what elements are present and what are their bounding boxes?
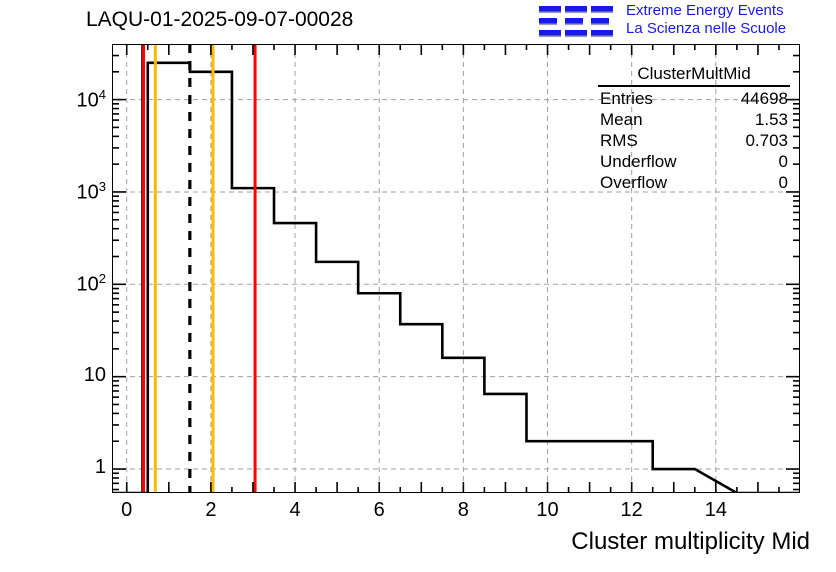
stats-row: Overflow 0 xyxy=(598,172,790,193)
x-axis-tick-label: 8 xyxy=(438,499,488,522)
stats-box: ClusterMultMid Entries 44698 Mean 1.53 R… xyxy=(598,64,790,193)
x-axis-tick-label: 12 xyxy=(607,499,657,522)
eee-logo-text: Extreme Energy Events La Scienza nelle S… xyxy=(626,2,786,38)
x-axis-tick-label: 2 xyxy=(186,499,236,522)
stats-value: 0 xyxy=(779,151,788,172)
x-axis-tick-label: 0 xyxy=(102,499,152,522)
stats-row: Underflow 0 xyxy=(598,151,790,172)
stats-value: 44698 xyxy=(741,88,788,109)
stats-key: Underflow xyxy=(600,151,677,172)
marker-lines xyxy=(143,44,255,493)
histogram-canvas: LAQU-01-2025-09-07-00028 xyxy=(0,0,836,572)
y-axis-tick-label: 10 xyxy=(40,364,106,387)
x-axis-title: Cluster multiplicity Mid xyxy=(571,528,810,556)
stats-row: RMS 0.703 xyxy=(598,130,790,151)
stats-key: Entries xyxy=(600,88,653,109)
page-title: LAQU-01-2025-09-07-00028 xyxy=(86,8,353,32)
stats-title: ClusterMultMid xyxy=(598,64,790,87)
eee-logo: Extreme Energy Events La Scienza nelle S… xyxy=(538,2,834,42)
stats-row: Entries 44698 xyxy=(598,88,790,109)
x-axis-tick-label: 10 xyxy=(523,499,573,522)
y-axis-tick-label: 102 xyxy=(40,271,106,297)
x-axis-tick-label: 14 xyxy=(691,499,741,522)
eee-logo-line1: Extreme Energy Events xyxy=(626,2,786,20)
stats-key: Mean xyxy=(600,109,643,130)
x-axis-tick-label: 4 xyxy=(270,499,320,522)
stats-value: 1.53 xyxy=(755,109,788,130)
eee-logo-line2: La Scienza nelle Scuole xyxy=(626,20,786,38)
stats-key: RMS xyxy=(600,130,638,151)
stats-value: 0 xyxy=(779,172,788,193)
y-axis-tick-label: 1 xyxy=(40,456,106,479)
stats-key: Overflow xyxy=(600,172,667,193)
stats-row: Mean 1.53 xyxy=(598,109,790,130)
y-axis-tick-label: 104 xyxy=(40,87,106,113)
y-axis-tick-label: 103 xyxy=(40,179,106,205)
stats-value: 0.703 xyxy=(745,130,788,151)
eee-mark-icon xyxy=(538,4,618,40)
x-axis-tick-label: 6 xyxy=(354,499,404,522)
